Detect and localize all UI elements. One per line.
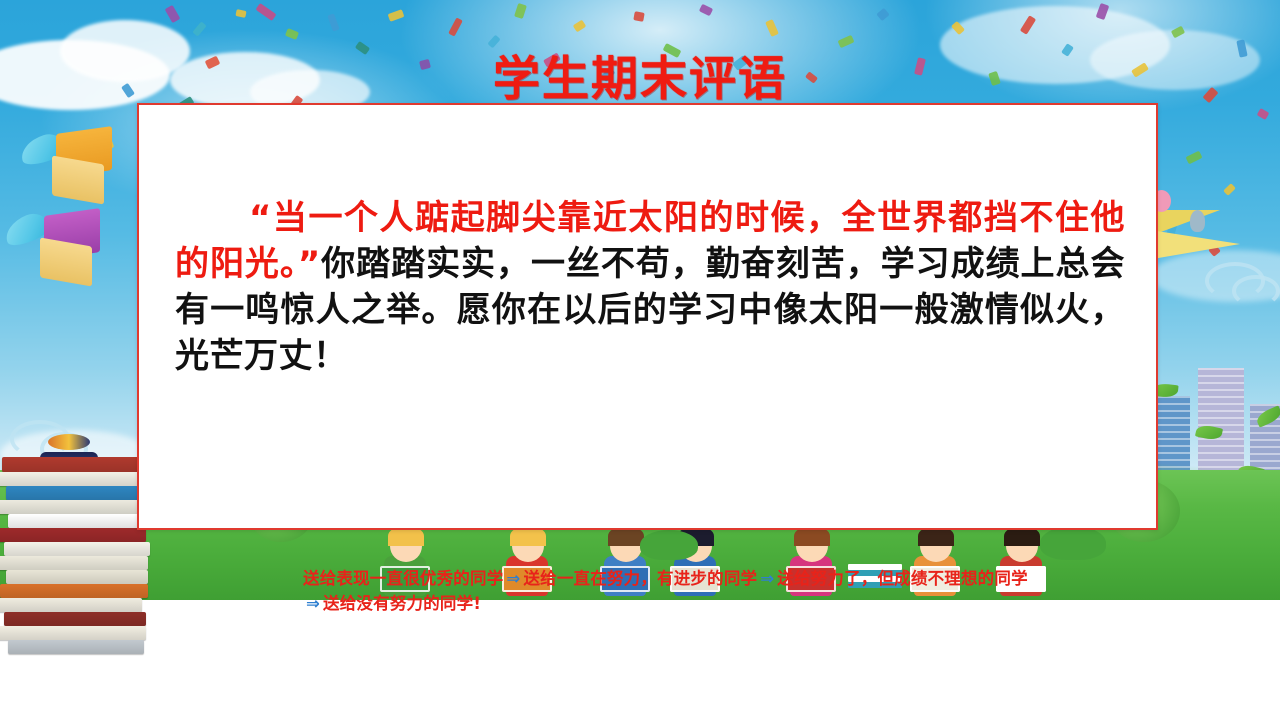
stacked-book — [0, 626, 146, 640]
stacked-book — [2, 457, 152, 472]
confetti-piece — [1020, 15, 1036, 35]
confetti-piece — [1171, 26, 1185, 39]
comment-text: “当一个人踮起脚尖靠近太阳的时候，全世界都挡不住他的阳光。”你踏踏实实，一丝不苟… — [175, 195, 1125, 379]
bush-icon — [1040, 526, 1106, 560]
caption-segment-2: 送给一直在努力，有进步的同学 — [523, 569, 757, 588]
confetti-piece — [1223, 183, 1236, 196]
leaf-icon — [1195, 423, 1223, 441]
arrow-right-icon: ⇒ — [503, 569, 523, 588]
confetti-piece — [699, 4, 713, 16]
confetti-piece — [327, 13, 339, 31]
confetti-piece — [165, 5, 181, 23]
confetti-piece — [448, 17, 463, 36]
stacked-book — [4, 612, 146, 626]
confetti-piece — [633, 11, 644, 22]
caption-segment-3: 送给努力了，但成绩不理想的同学 — [777, 569, 1028, 588]
caption-bar: 送给表现一直很优秀的同学⇒送给一直在努力，有进步的同学⇒送给努力了，但成绩不理想… — [303, 566, 1043, 616]
slide-root: 学生期末评语 “当一个人踮起脚尖靠近太阳的时候，全世界都挡不住他的阳光。”你踏踏… — [0, 0, 1280, 720]
confetti-piece — [514, 3, 527, 19]
stacked-book — [8, 640, 144, 654]
stacked-book — [8, 514, 148, 528]
confetti-piece — [256, 3, 277, 21]
confetti-piece — [951, 21, 965, 35]
confetti-piece — [1186, 151, 1203, 165]
stacked-book — [0, 556, 148, 570]
confetti-piece — [235, 9, 246, 18]
stacked-book — [0, 472, 148, 486]
confetti-piece — [765, 19, 779, 37]
stacked-book — [0, 500, 150, 514]
confetti-piece — [876, 8, 889, 21]
arrow-right-icon: ⇒ — [303, 594, 323, 613]
confetti-piece — [1096, 3, 1110, 20]
confetti-piece — [192, 21, 206, 36]
confetti-piece — [573, 20, 587, 33]
comment-panel: “当一个人踮起脚尖靠近太阳的时候，全世界都挡不住他的阳光。”你踏踏实实，一丝不苟… — [137, 103, 1158, 530]
stacked-book — [0, 584, 148, 598]
bush-icon — [640, 530, 698, 560]
confetti-piece — [285, 28, 299, 40]
caption-segment-4: 送给没有努力的同学! — [323, 594, 481, 613]
confetti-piece — [388, 9, 405, 22]
stacked-book — [6, 486, 152, 500]
caption-segment-1: 送给表现一直很优秀的同学 — [303, 569, 503, 588]
stacked-book — [0, 528, 146, 542]
stacked-book — [4, 542, 150, 556]
confetti-piece — [1257, 108, 1270, 120]
arrow-right-icon: ⇒ — [757, 569, 777, 588]
leaf-icon — [1254, 405, 1280, 427]
stacked-book — [6, 570, 148, 584]
page-title: 学生期末评语 — [0, 40, 1280, 109]
stacked-book — [0, 598, 142, 612]
